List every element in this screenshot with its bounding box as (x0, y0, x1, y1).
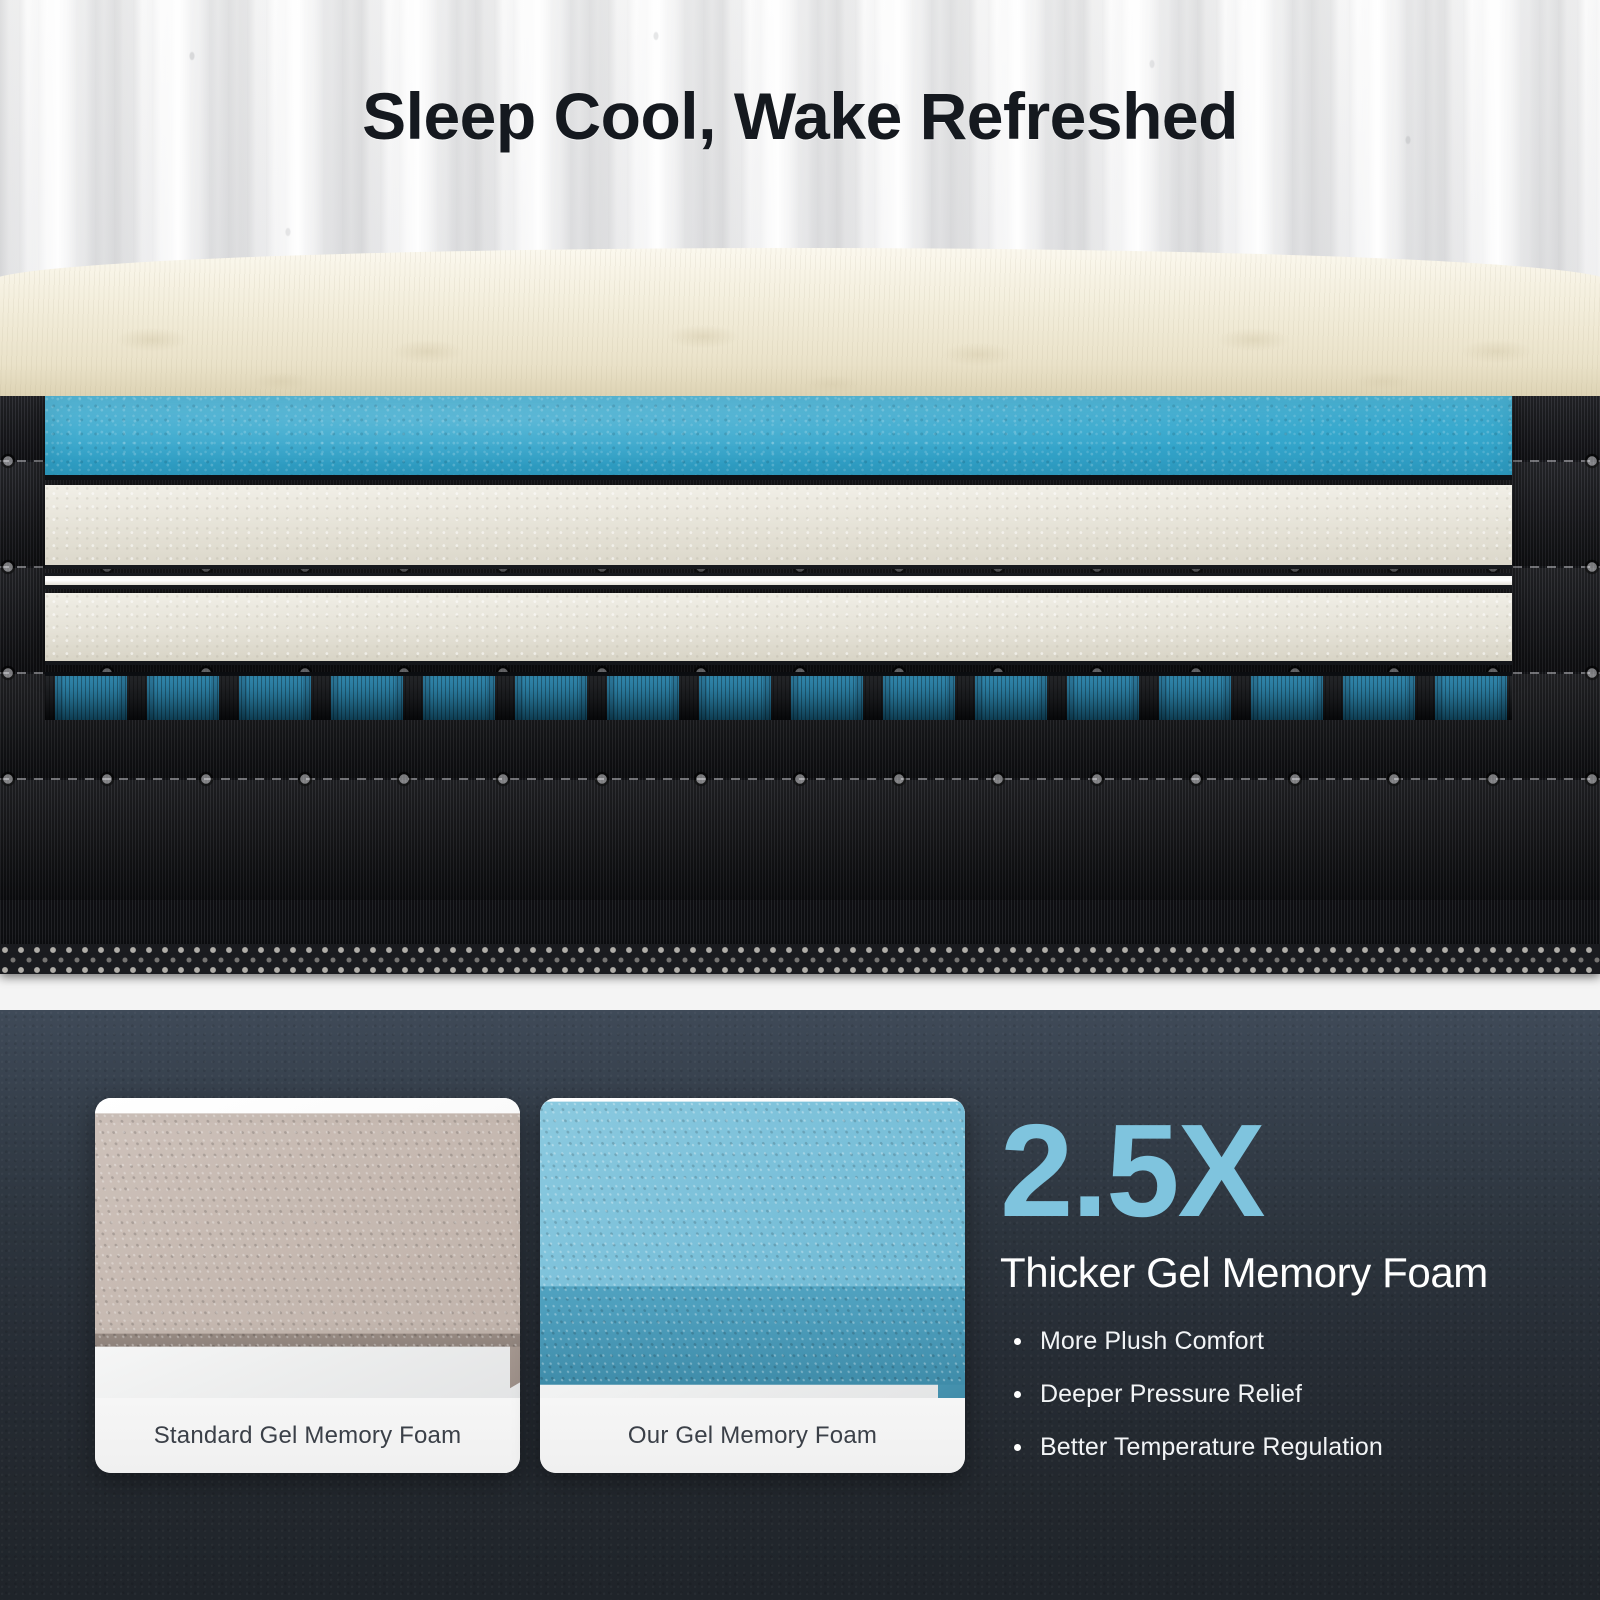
layer-cutaway-stack (45, 384, 1512, 906)
our-foam-top-face (540, 1102, 965, 1287)
our-foam-caption: Our Gel Memory Foam (540, 1398, 965, 1473)
standard-foam-caption: Standard Gel Memory Foam (95, 1398, 520, 1473)
layer-comfort-foam-upper (45, 485, 1512, 569)
list-item: Deeper Pressure Relief (1000, 1380, 1580, 1409)
list-item: More Plush Comfort (1000, 1327, 1580, 1356)
layer-gel-memory-foam (45, 392, 1512, 480)
layer-support-foam-lower (45, 593, 1512, 665)
layer-transition-strip (45, 573, 1512, 589)
list-item: Better Temperature Regulation (1000, 1433, 1580, 1462)
mattress-cutaway-illustration (0, 248, 1600, 1010)
claim-subtitle: Thicker Gel Memory Foam (1000, 1249, 1580, 1297)
multiplier-headline: 2.5X (1000, 1108, 1580, 1235)
cover-binding-bottom (0, 944, 1600, 974)
hero-section: Sleep Cool, Wake Refreshed (0, 0, 1600, 1010)
standard-foam-top-face (95, 1113, 520, 1333)
page-title: Sleep Cool, Wake Refreshed (0, 78, 1600, 154)
comparison-card-ours[interactable]: Our Gel Memory Foam (540, 1098, 965, 1473)
benefit-list: More Plush Comfort Deeper Pressure Relie… (1000, 1327, 1580, 1462)
our-foam-photo (540, 1098, 965, 1398)
product-infographic: Sleep Cool, Wake Refreshed (0, 0, 1600, 1600)
quilted-pillow-top-surface (0, 248, 1600, 396)
comparison-card-standard[interactable]: Standard Gel Memory Foam (95, 1098, 520, 1473)
standard-foam-photo (95, 1098, 520, 1398)
claim-block: 2.5X Thicker Gel Memory Foam More Plush … (1000, 1108, 1580, 1486)
